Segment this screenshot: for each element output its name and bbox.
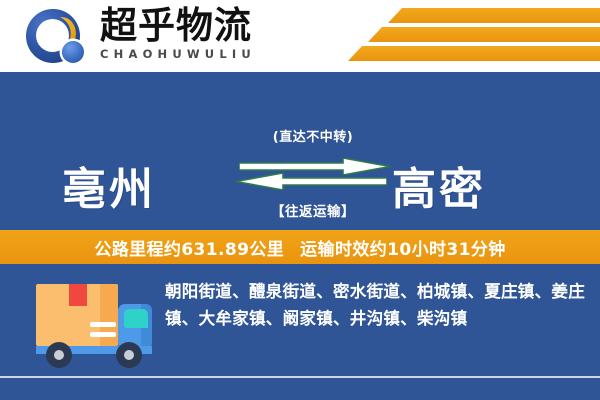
road-line-divider bbox=[0, 376, 600, 378]
delivery-truck-icon bbox=[36, 278, 160, 372]
destination-city-label: 高密 bbox=[392, 167, 486, 213]
truck-front-hub bbox=[124, 350, 134, 360]
direct-route-note: (直达不中转) bbox=[243, 130, 383, 145]
stripe-1 bbox=[388, 8, 600, 23]
trip-info-text: 公路里程约631.89公里运输时效约10小时31分钟 bbox=[94, 235, 505, 260]
bidirectional-arrow-icon bbox=[235, 158, 391, 192]
logo-accent-dot-shape bbox=[62, 41, 84, 63]
truck-stripe-2 bbox=[90, 332, 116, 337]
truck-red-label bbox=[69, 284, 87, 306]
brand-name-pinyin: CHAOHUWULIU bbox=[100, 48, 256, 61]
stripe-2 bbox=[368, 27, 600, 42]
distance-text: 公路里程约631.89公里 bbox=[94, 240, 284, 260]
route-arrow-group: (直达不中转) 【往返运输】 bbox=[243, 130, 383, 220]
logistics-route-banner: 超乎物流 CHAOHUWULIU 亳州 (直达不中转) bbox=[0, 0, 600, 400]
decorative-stripes bbox=[310, 6, 600, 68]
truck-stripe-1 bbox=[90, 322, 116, 327]
trip-info-bar: 公路里程约631.89公里运输时效约10小时31分钟 bbox=[0, 230, 600, 264]
brand-name-chinese: 超乎物流 bbox=[100, 6, 256, 45]
brand-block: 超乎物流 CHAOHUWULIU bbox=[100, 6, 256, 61]
duration-text: 运输时效约10小时31分钟 bbox=[300, 240, 506, 260]
stripe-3 bbox=[348, 46, 600, 61]
arrow-left-icon bbox=[235, 173, 387, 190]
truck-window bbox=[124, 309, 148, 328]
route-section: 亳州 (直达不中转) 【往返运输】 高密 bbox=[0, 72, 600, 230]
truck-rear-hub bbox=[54, 350, 64, 360]
coverage-areas-text: 朝阳街道、醴泉街道、密水街道、柏城镇、夏庄镇、姜庄镇、大牟家镇、阚家镇、井沟镇、… bbox=[165, 278, 585, 332]
company-logo-icon bbox=[22, 8, 94, 66]
header-bar: 超乎物流 CHAOHUWULIU bbox=[0, 0, 600, 72]
round-trip-note: 【往返运输】 bbox=[243, 204, 383, 220]
origin-city-label: 亳州 bbox=[62, 167, 156, 213]
